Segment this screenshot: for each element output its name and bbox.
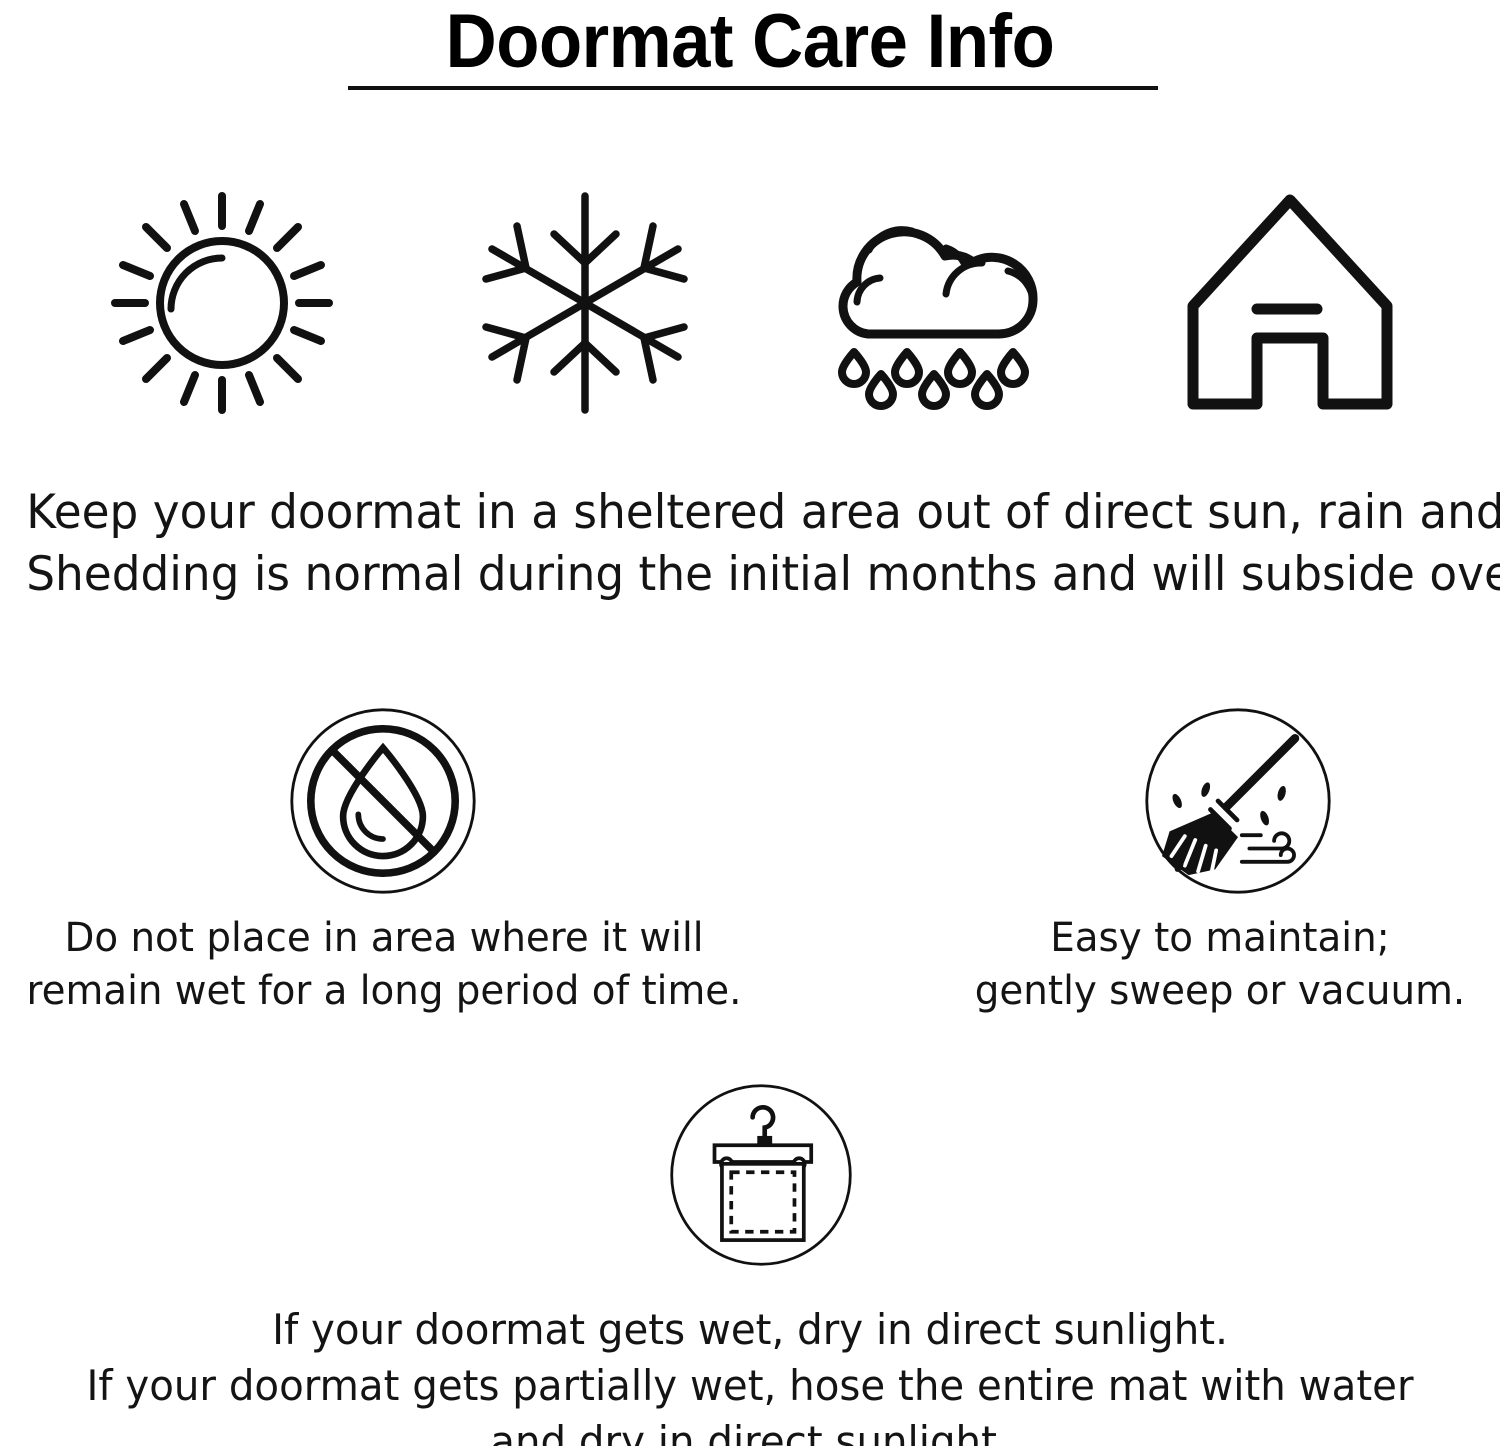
no-water-caption-line-2: remain wet for a long period of time. [12,965,757,1018]
page-header: Doormat Care Info [0,0,1500,82]
no-water-caption: Do not place in area where it will remai… [12,912,757,1018]
rain-cloud-icon [812,178,1062,428]
title-underline-rule [348,86,1158,90]
drying-caption-line-1: If your doormat gets wet, dry in direct … [30,1302,1470,1358]
broom-caption-line-1: Easy to maintain; [948,912,1491,965]
drying-caption-line-2: If your doormat gets partially wet, hose… [30,1358,1470,1414]
broom-icon [1143,706,1333,896]
drying-caption-line-3: and dry in direct sunlight. [30,1414,1470,1446]
broom-caption: Easy to maintain; gently sweep or vacuum… [948,912,1491,1018]
doormat-care-info-page: Doormat Care Info [0,0,1500,1446]
no-water-caption-line-1: Do not place in area where it will [12,912,757,965]
intro-paragraph: Keep your doormat in a sheltered area ou… [26,482,1474,606]
sun-icon [97,178,347,428]
broom-caption-line-2: gently sweep or vacuum. [948,965,1491,1018]
house-icon [1165,178,1415,428]
page-title: Doormat Care Info [53,0,1448,82]
snowflake-icon [460,178,710,428]
drying-caption: If your doormat gets wet, dry in direct … [30,1302,1470,1446]
weather-icon-row [0,178,1500,428]
no-water-icon [288,706,478,896]
hang-dry-icon [668,1082,854,1268]
intro-line-1: Keep your doormat in a sheltered area ou… [26,482,1474,544]
intro-line-2: Shedding is normal during the initial mo… [26,544,1474,606]
